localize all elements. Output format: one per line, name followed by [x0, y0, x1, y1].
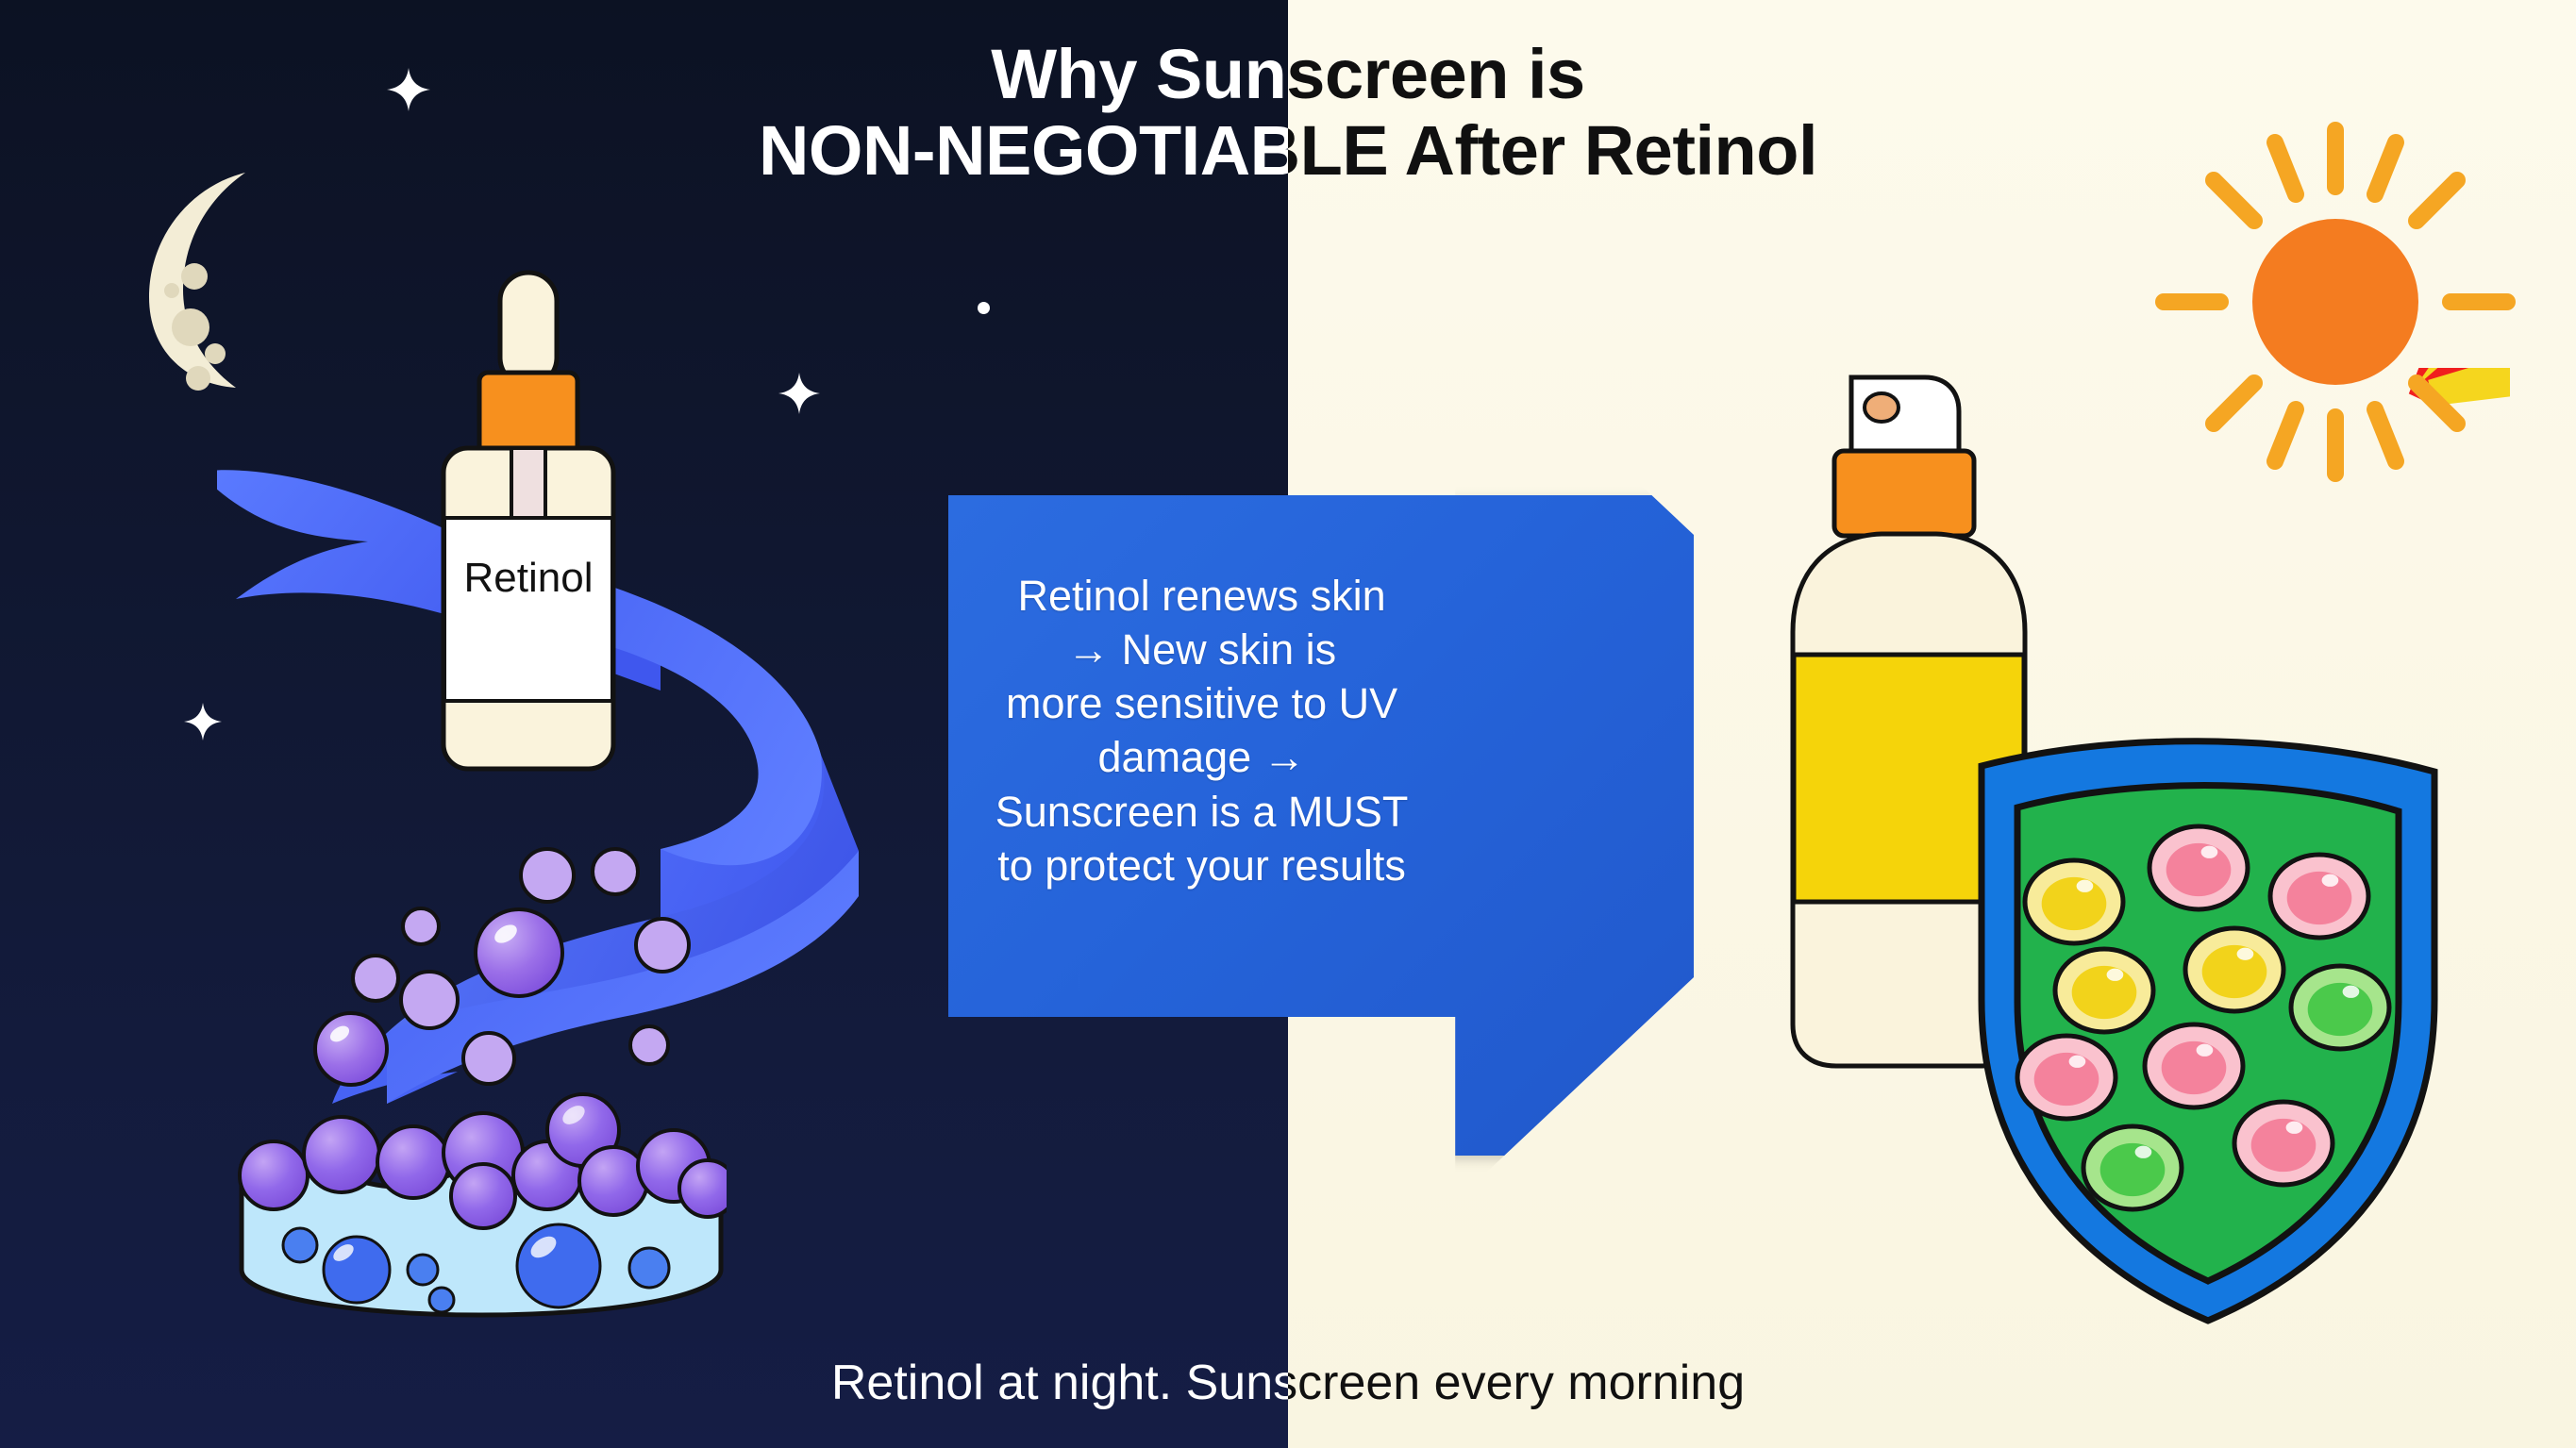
- explanation-arrow-callout: Retinol renews skin → New skin is more s…: [948, 495, 1694, 1156]
- skin-cell-dot-highlight: [2322, 874, 2339, 887]
- skin-cell-dot-highlight: [2286, 1122, 2303, 1134]
- skin-cell-dot-core: [2308, 983, 2373, 1036]
- callout-line-6: to protect your results: [948, 839, 1455, 892]
- callout-text: Retinol renews skin → New skin is more s…: [948, 569, 1455, 892]
- retinol-dropper-bottle-icon: Retinol: [406, 269, 651, 778]
- crescent-moon-icon: [104, 165, 330, 391]
- skin-cell-dot-core: [2034, 1053, 2099, 1106]
- sparkle-star-icon: [778, 373, 820, 414]
- skin-cell-dot-core: [2100, 1143, 2166, 1196]
- skin-cell-dot-core: [2072, 966, 2137, 1019]
- sun-icon: [2147, 113, 2524, 491]
- purple-cell-bubbles-icon: [236, 830, 745, 1226]
- skin-cell-dot-core: [2166, 843, 2232, 896]
- retinol-label-text: Retinol: [464, 555, 594, 601]
- sparkle-star-icon: [387, 68, 430, 111]
- callout-line-4: damage →: [948, 730, 1455, 784]
- skin-cell-dot-highlight: [2069, 1056, 2086, 1068]
- skin-cell-dot-core: [2287, 872, 2352, 924]
- sparkle-star-icon: [184, 703, 222, 741]
- skin-cell-dot-highlight: [2197, 1044, 2214, 1057]
- skin-cell-dot-core: [2042, 877, 2107, 930]
- infographic-canvas: Retinol: [0, 0, 2576, 1448]
- skin-cell-dot-highlight: [2343, 986, 2360, 998]
- skin-cell-dot-core: [2202, 945, 2267, 998]
- skin-cell-dot-highlight: [2201, 846, 2218, 858]
- skin-cell-dot-core: [2162, 1041, 2227, 1094]
- skin-cell-dot-highlight: [2077, 880, 2094, 892]
- protection-shield-icon: [1963, 717, 2453, 1330]
- skin-cell-dot-core: [2251, 1119, 2317, 1172]
- dot-star-icon: [978, 302, 990, 314]
- skin-cell-dot-highlight: [2135, 1146, 2152, 1158]
- skin-cell-dot-highlight: [2107, 969, 2124, 981]
- callout-line-3: more sensitive to UV: [948, 676, 1455, 730]
- callout-line-1: Retinol renews skin: [948, 569, 1455, 623]
- skin-cell-dot-highlight: [2237, 948, 2254, 960]
- callout-line-5: Sunscreen is a MUST: [948, 785, 1455, 839]
- callout-line-2: → New skin is: [948, 623, 1455, 676]
